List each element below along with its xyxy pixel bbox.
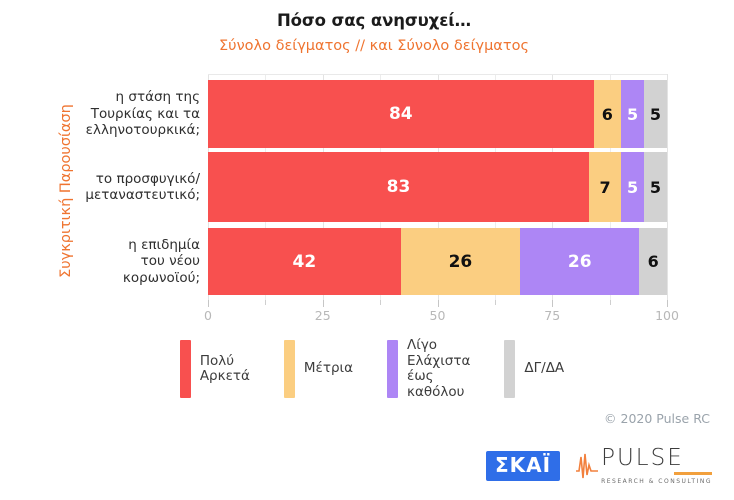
x-axis-tick xyxy=(610,300,611,305)
x-axis-tick xyxy=(438,300,439,307)
bar-segment[interactable]: 6 xyxy=(594,80,622,148)
bar-segment[interactable]: 6 xyxy=(639,228,667,295)
legend-swatch xyxy=(504,340,515,398)
bar-segment[interactable]: 26 xyxy=(401,228,520,295)
bar-row: 84655 xyxy=(208,80,667,148)
gridline xyxy=(667,74,668,300)
page-title: Πόσο σας ανησυχεί… xyxy=(0,11,734,30)
legend-swatch xyxy=(284,340,295,398)
x-axis-tick-label: 100 xyxy=(655,308,679,323)
category-label-group: η στάση της Τουρκίας και τα ελληνοτουρκι… xyxy=(0,74,200,300)
bar-segment[interactable]: 7 xyxy=(589,152,621,222)
legend-item[interactable]: Μέτρια xyxy=(284,340,353,398)
bar-segment[interactable]: 5 xyxy=(644,152,667,222)
legend-item[interactable]: Πολύ Αρκετά xyxy=(180,340,250,398)
skai-logo: ΣΚΑΪ xyxy=(486,451,560,481)
legend-label: Μέτρια xyxy=(304,361,353,377)
legend: Πολύ ΑρκετάΜέτριαΛίγο Ελάχιστα έως καθόλ… xyxy=(0,338,734,400)
bar-segment[interactable]: 83 xyxy=(208,152,589,222)
bar-segment[interactable]: 5 xyxy=(644,80,667,148)
pulse-wave-icon xyxy=(576,451,598,481)
x-axis-tick-label: 50 xyxy=(430,308,446,323)
x-axis-tick xyxy=(495,300,496,305)
legend-item[interactable]: Λίγο Ελάχιστα έως καθόλου xyxy=(387,338,470,400)
copyright-text: © 2020 Pulse RC xyxy=(604,411,710,426)
chart-page: Πόσο σας ανησυχεί… Σύνολο δείγματος // κ… xyxy=(0,0,734,500)
x-axis-tick xyxy=(265,300,266,305)
category-label: η στάση της Τουρκίας και τα ελληνοτουρκι… xyxy=(0,89,200,139)
pulse-logo-tagline: RESEARCH & CONSULTING xyxy=(601,478,712,485)
x-axis-tick-label: 0 xyxy=(204,308,212,323)
bar-segment[interactable]: 84 xyxy=(208,80,594,148)
x-axis-tick-label: 75 xyxy=(544,308,560,323)
x-axis-tick xyxy=(380,300,381,305)
bar-segment[interactable]: 5 xyxy=(621,80,644,148)
x-axis-tick-label: 25 xyxy=(315,308,331,323)
logo-group: ΣΚΑΪ PULSE RESEARCH & CONSULTING xyxy=(486,447,712,485)
x-axis-tick xyxy=(323,300,324,307)
plot-top-border xyxy=(208,74,667,75)
pulse-logo-name: PULSE xyxy=(601,447,712,470)
category-label: η επιδημία του νέου κορωνοϊού; xyxy=(0,237,200,287)
legend-swatch xyxy=(387,340,398,398)
x-axis: 0255075100 xyxy=(208,300,667,326)
plot-area: PULSE RESEARCH & CONSULTING 846558375542… xyxy=(208,74,667,300)
x-axis-tick xyxy=(667,300,668,307)
legend-swatch xyxy=(180,340,191,398)
pulse-logo-rule xyxy=(674,472,712,475)
bar-segment[interactable]: 42 xyxy=(208,228,401,295)
x-axis-tick xyxy=(552,300,553,307)
bar-segment[interactable]: 5 xyxy=(621,152,644,222)
category-label: το προσφυγικό/ μεταναστευτικό; xyxy=(0,171,200,204)
pulse-logo: PULSE RESEARCH & CONSULTING xyxy=(576,447,712,485)
page-subtitle: Σύνολο δείγματος // και Σύνολο δείγματος xyxy=(0,38,734,54)
bar-row: 4226266 xyxy=(208,228,667,295)
bar-segment[interactable]: 26 xyxy=(520,228,639,295)
legend-label: Πολύ Αρκετά xyxy=(200,354,250,385)
legend-label: ΔΓ/ΔΑ xyxy=(524,361,564,377)
legend-label: Λίγο Ελάχιστα έως καθόλου xyxy=(407,338,470,400)
legend-item[interactable]: ΔΓ/ΔΑ xyxy=(504,340,564,398)
bar-row: 83755 xyxy=(208,152,667,222)
x-axis-tick xyxy=(208,300,209,307)
